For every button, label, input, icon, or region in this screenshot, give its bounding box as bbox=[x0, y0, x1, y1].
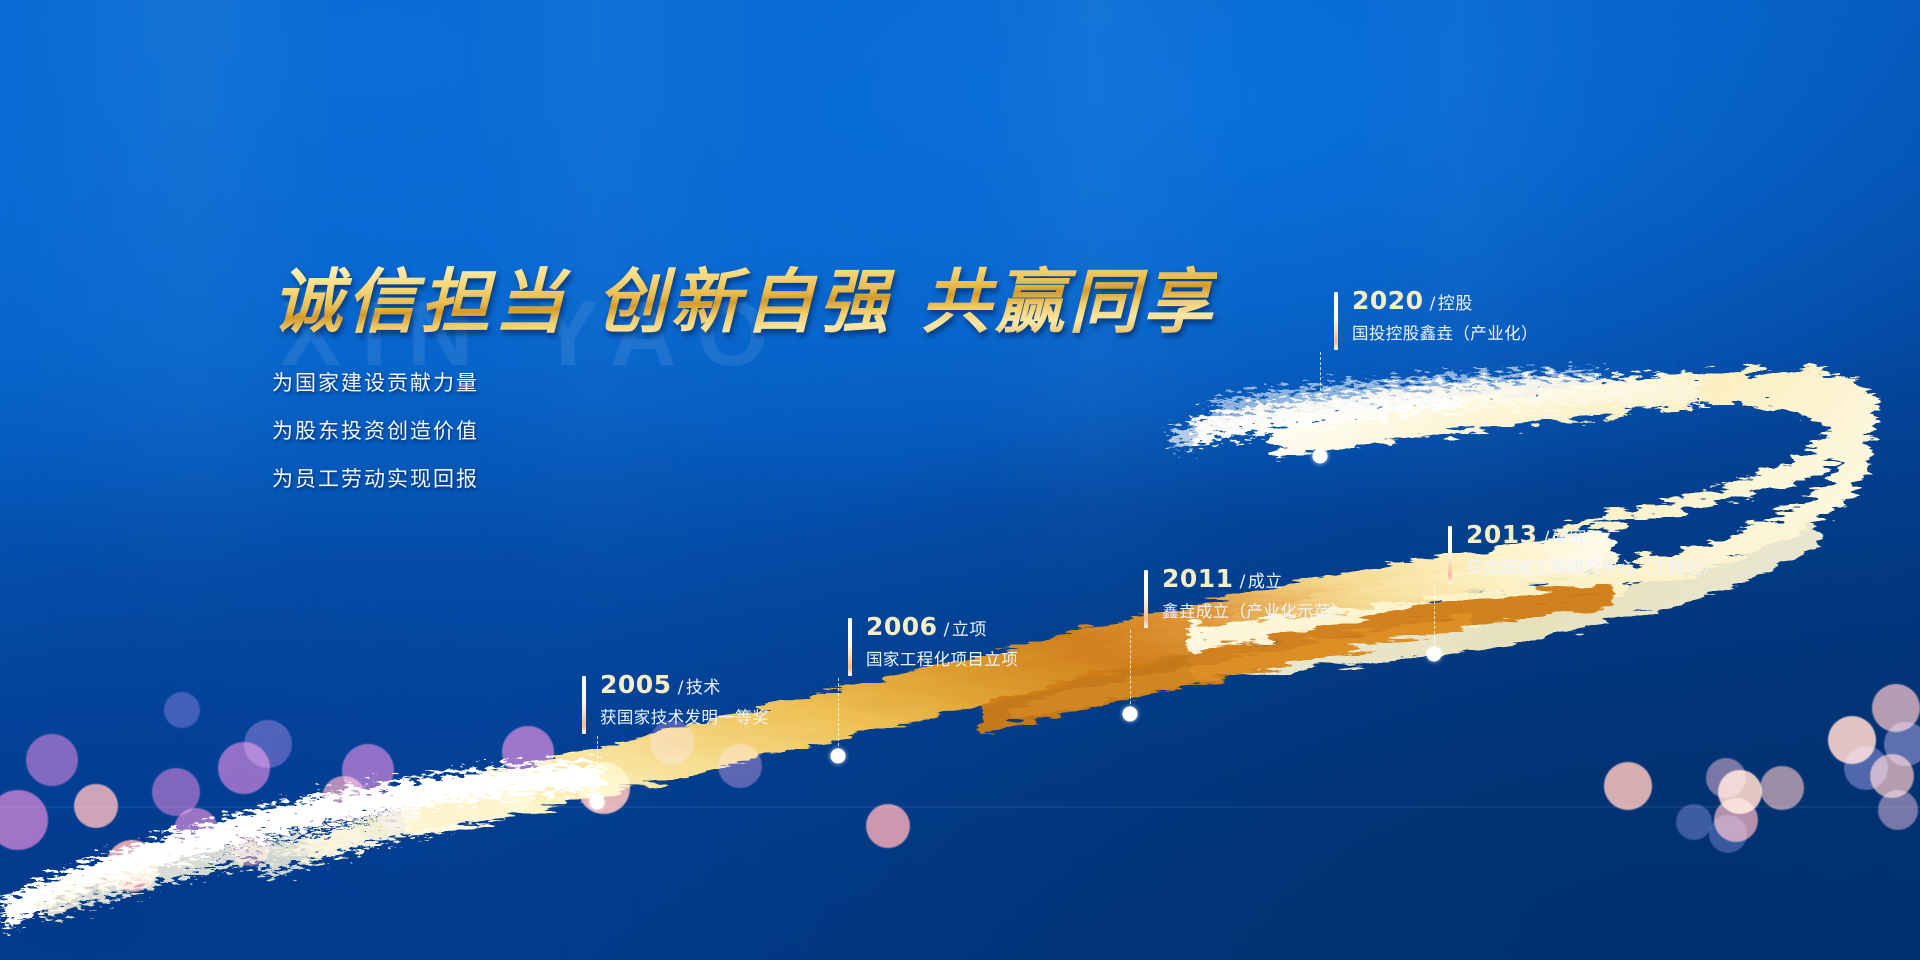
milestone-category: 控股 bbox=[1438, 294, 1473, 314]
milestone-separator: / bbox=[944, 620, 950, 640]
milestone-description: 获批国家工程研究中心（工程化） bbox=[1466, 560, 1720, 577]
bokeh-circle bbox=[1870, 754, 1914, 798]
milestone-leader-line bbox=[838, 678, 839, 756]
hero-banner: XIN YAO 诚信担当 创新自强 共赢同享 为国家建设贡献力量 为股东投资创造… bbox=[0, 0, 1920, 960]
bokeh-circle bbox=[1706, 758, 1746, 798]
milestone-year: 2013/研究 bbox=[1466, 522, 1720, 547]
timeline-milestone[interactable]: 2006/立项国家工程化项目立项 bbox=[848, 614, 1018, 669]
milestone-description: 获国家技术发明一等奖 bbox=[600, 710, 769, 727]
milestone-accent-bar bbox=[1448, 526, 1452, 584]
milestone-accent-bar bbox=[1334, 292, 1338, 350]
milestone-accent-bar bbox=[582, 676, 586, 734]
timeline-milestone[interactable]: 2013/研究获批国家工程研究中心（工程化） bbox=[1448, 522, 1720, 577]
milestone-separator: / bbox=[678, 678, 684, 698]
bokeh-circle bbox=[1878, 790, 1918, 830]
bokeh-circle bbox=[1709, 815, 1747, 853]
timeline-milestone[interactable]: 2011/成立鑫垚成立（产业化示范） bbox=[1144, 566, 1348, 621]
bokeh-circle bbox=[74, 784, 118, 828]
bokeh-circle bbox=[1884, 722, 1920, 766]
bokeh-circle bbox=[174, 808, 218, 852]
bokeh-circle bbox=[1872, 684, 1920, 732]
bokeh-circle bbox=[376, 786, 420, 830]
milestone-category: 立项 bbox=[952, 620, 987, 640]
milestone-year: 2020/控股 bbox=[1352, 288, 1538, 313]
milestone-marker-dot[interactable] bbox=[590, 795, 605, 810]
bokeh-circle bbox=[1718, 770, 1762, 814]
bokeh-circle bbox=[1760, 766, 1804, 810]
milestone-marker-dot[interactable] bbox=[1313, 449, 1328, 464]
milestone-year-value: 2020 bbox=[1352, 286, 1424, 315]
bokeh-circle bbox=[244, 720, 292, 768]
bokeh-circle bbox=[1714, 798, 1758, 842]
milestone-year: 2005/技术 bbox=[600, 672, 769, 697]
timeline-milestone[interactable]: 2005/技术获国家技术发明一等奖 bbox=[582, 672, 769, 727]
milestone-description: 鑫垚成立（产业化示范） bbox=[1162, 604, 1348, 621]
slogan-line-3: 为员工劳动实现回报 bbox=[272, 469, 1217, 490]
bokeh-circle bbox=[152, 768, 200, 816]
bokeh-circle bbox=[718, 744, 762, 788]
bokeh-circle bbox=[496, 770, 536, 810]
milestone-year-value: 2013 bbox=[1466, 520, 1538, 549]
milestone-separator: / bbox=[1430, 294, 1436, 314]
milestone-year: 2006/立项 bbox=[866, 614, 1018, 639]
headline-block: XIN YAO 诚信担当 创新自强 共赢同享 为国家建设贡献力量 为股东投资创造… bbox=[272, 246, 1217, 517]
bokeh-circle bbox=[26, 734, 78, 786]
bokeh-circle bbox=[1604, 762, 1652, 810]
milestone-accent-bar bbox=[1144, 570, 1148, 628]
milestone-year: 2011/成立 bbox=[1162, 566, 1348, 591]
bokeh-circle bbox=[342, 744, 394, 796]
timeline-milestone[interactable]: 2020/控股国投控股鑫垚（产业化） bbox=[1334, 288, 1538, 343]
milestone-leader-line bbox=[1434, 586, 1435, 654]
bokeh-circle bbox=[866, 804, 910, 848]
bokeh-circle bbox=[1676, 804, 1712, 840]
milestone-year-value: 2011 bbox=[1162, 564, 1234, 593]
slogan-line-1: 为国家建设贡献力量 bbox=[272, 373, 1217, 394]
milestone-leader-line bbox=[1130, 630, 1131, 714]
bokeh-circle bbox=[164, 692, 200, 728]
milestone-category: 技术 bbox=[686, 678, 721, 698]
bokeh-circle bbox=[322, 776, 366, 820]
bokeh-circle bbox=[0, 790, 48, 850]
milestone-marker-dot[interactable] bbox=[1123, 707, 1138, 722]
bokeh-circle bbox=[1828, 716, 1876, 764]
milestone-leader-line bbox=[1320, 352, 1321, 456]
bokeh-circle bbox=[578, 762, 630, 814]
bokeh-circle bbox=[106, 840, 158, 892]
slogan-list: 为国家建设贡献力量 为股东投资创造价值 为员工劳动实现回报 bbox=[272, 373, 1217, 490]
milestone-category: 研究 bbox=[1552, 528, 1587, 548]
bokeh-circle bbox=[230, 826, 270, 866]
milestone-description: 国投控股鑫垚（产业化） bbox=[1352, 326, 1538, 343]
milestone-marker-dot[interactable] bbox=[831, 749, 846, 764]
milestone-separator: / bbox=[1240, 572, 1246, 592]
milestone-separator: / bbox=[1544, 528, 1550, 548]
page-title: 诚信担当 创新自强 共赢同享 bbox=[272, 246, 1217, 347]
bokeh-circle bbox=[218, 742, 270, 794]
milestone-accent-bar bbox=[848, 618, 852, 676]
bokeh-circle bbox=[502, 726, 554, 778]
milestone-year-value: 2006 bbox=[866, 612, 938, 641]
milestone-category: 成立 bbox=[1248, 572, 1283, 592]
slogan-line-2: 为股东投资创造价值 bbox=[272, 421, 1217, 442]
milestone-leader-line bbox=[597, 736, 598, 802]
bokeh-circle bbox=[1844, 746, 1888, 790]
milestone-marker-dot[interactable] bbox=[1427, 647, 1442, 662]
milestone-year-value: 2005 bbox=[600, 670, 672, 699]
milestone-description: 国家工程化项目立项 bbox=[866, 652, 1018, 669]
